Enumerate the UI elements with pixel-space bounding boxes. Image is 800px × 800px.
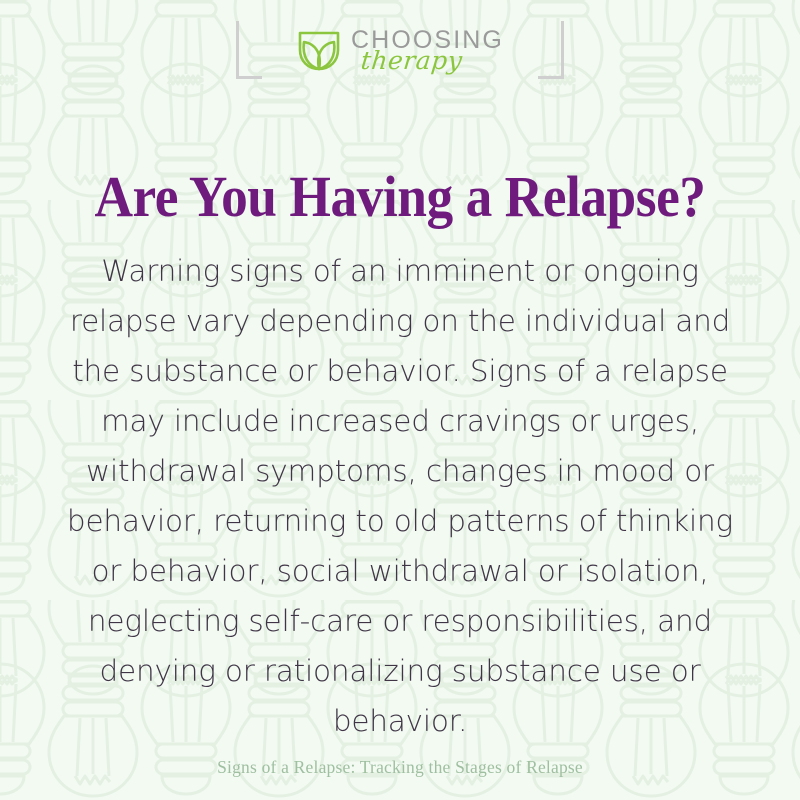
poster-content: Are You Having a Relapse? Warning signs … — [0, 0, 800, 800]
leaf-petals-logo-icon — [296, 28, 342, 72]
body-paragraph: Warning signs of an imminent or ongoing … — [60, 246, 740, 746]
brand-logo[interactable]: CHOOSING therapy — [296, 28, 504, 73]
brand-name-secondary: therapy — [360, 48, 506, 73]
poster-canvas: CHOOSING therapy Are You Having a Relaps… — [0, 0, 800, 800]
brand-wordmark: CHOOSING therapy — [351, 28, 504, 73]
footer-caption: Signs of a Relapse: Tracking the Stages … — [0, 757, 800, 778]
bracket-right-decoration — [538, 21, 564, 79]
poster-header: CHOOSING therapy — [0, 0, 800, 100]
bracket-left-decoration — [236, 21, 262, 79]
page-title: Are You Having a Relapse? — [32, 163, 768, 230]
